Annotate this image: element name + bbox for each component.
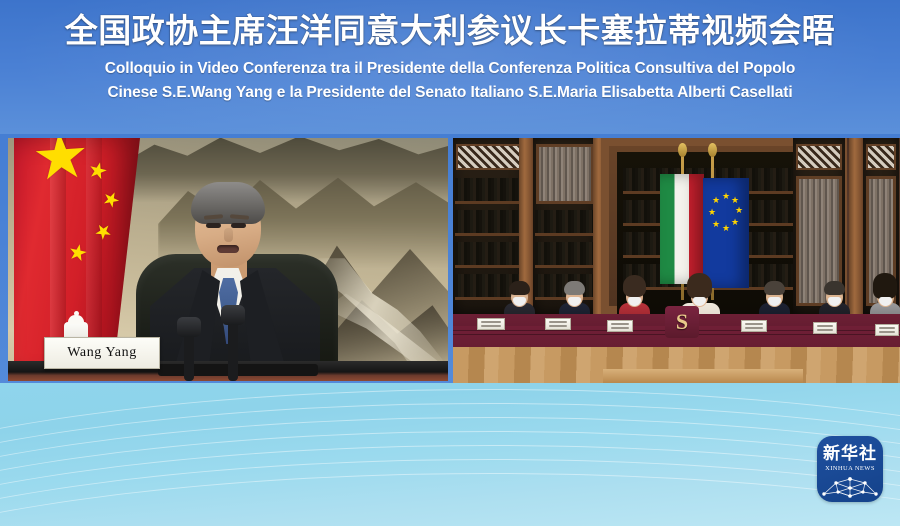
eu-star: ★ <box>712 220 720 229</box>
microphone <box>184 331 194 381</box>
eu-star: ★ <box>708 208 716 217</box>
delegate-hair <box>687 273 712 299</box>
speaker-hair <box>191 182 265 224</box>
nameplate-wang-yang: Wang Yang <box>44 337 160 369</box>
flag-star-small: ★ <box>86 158 110 184</box>
flagpole-finial <box>708 143 717 157</box>
broadcast-screenshot: 全国政协主席汪洋同意大利参议长卡塞拉蒂视频会晤 Colloquio in Vid… <box>0 0 900 526</box>
speaker-mouth <box>217 245 239 253</box>
flag-star-large: ★ <box>30 138 92 190</box>
bottom-band: 新华社 XINHUA NEWS <box>0 383 900 526</box>
delegate-hair <box>564 281 585 295</box>
microphone-head <box>177 317 201 337</box>
italian-flag <box>660 174 704 284</box>
window-curtain <box>536 144 594 204</box>
lattice-grille <box>796 144 842 170</box>
eu-star: ★ <box>731 196 739 205</box>
eu-star: ★ <box>722 224 730 233</box>
page-title-chinese: 全国政协主席汪洋同意大利参议长卡塞拉蒂视频会晤 <box>0 12 900 50</box>
flag-star-small: ★ <box>66 240 90 266</box>
desk-nameplate <box>477 318 505 330</box>
flagpole-finial <box>678 143 687 157</box>
delegate-hair <box>873 273 897 299</box>
video-panel-left[interactable]: ★ ★ ★ ★ ★ Wang Yang <box>8 138 448 381</box>
book-shelf <box>535 210 595 236</box>
flag-star-small: ★ <box>99 187 124 213</box>
subtitle-italian-line2: Cinese S.E.Wang Yang e la Presidente del… <box>0 84 900 102</box>
xinhua-news-logo[interactable]: 新华社 XINHUA NEWS <box>817 436 883 502</box>
book-shelf <box>455 178 523 204</box>
speaker-nose <box>224 228 233 242</box>
speaker-eye <box>206 223 221 228</box>
delegate-hair <box>824 281 845 295</box>
lattice-grille <box>456 144 522 170</box>
book-shelf <box>455 242 523 268</box>
book-shelf <box>535 242 595 268</box>
delegate-hair <box>509 281 530 295</box>
desk-nameplate <box>607 320 633 332</box>
nameplate-label: Wang Yang <box>67 345 137 361</box>
desk-nameplate <box>545 318 571 330</box>
senate-crest: S <box>665 306 699 338</box>
microphone-base <box>158 364 318 376</box>
microphone <box>228 319 238 381</box>
book-shelf <box>455 210 523 236</box>
floor-step <box>603 369 803 383</box>
eu-star: ★ <box>722 192 730 201</box>
eu-star: ★ <box>712 196 720 205</box>
microphone-head <box>221 305 245 325</box>
xinhua-logo-chinese: 新华社 <box>817 445 883 463</box>
eu-flag: ★ ★ ★ ★ ★ ★ ★ ★ <box>703 178 749 288</box>
desk-nameplate <box>813 322 837 334</box>
desk-nameplate <box>875 324 899 336</box>
header-banner: 全国政协主席汪洋同意大利参议长卡塞拉蒂视频会晤 Colloquio in Vid… <box>0 0 900 134</box>
desk-nameplate <box>741 320 767 332</box>
eu-star: ★ <box>735 206 743 215</box>
delegate-hair <box>623 275 646 297</box>
speaker-eye <box>231 223 246 228</box>
eu-star: ★ <box>731 218 739 227</box>
subtitle-italian-line1: Colloquio in Video Conferenza tra il Pre… <box>0 60 900 78</box>
lattice-grille <box>866 144 896 170</box>
network-graphic-icon <box>820 472 880 500</box>
video-panel-right[interactable]: ★ ★ ★ ★ ★ ★ ★ ★ <box>453 138 900 383</box>
delegate-hair <box>764 281 785 295</box>
